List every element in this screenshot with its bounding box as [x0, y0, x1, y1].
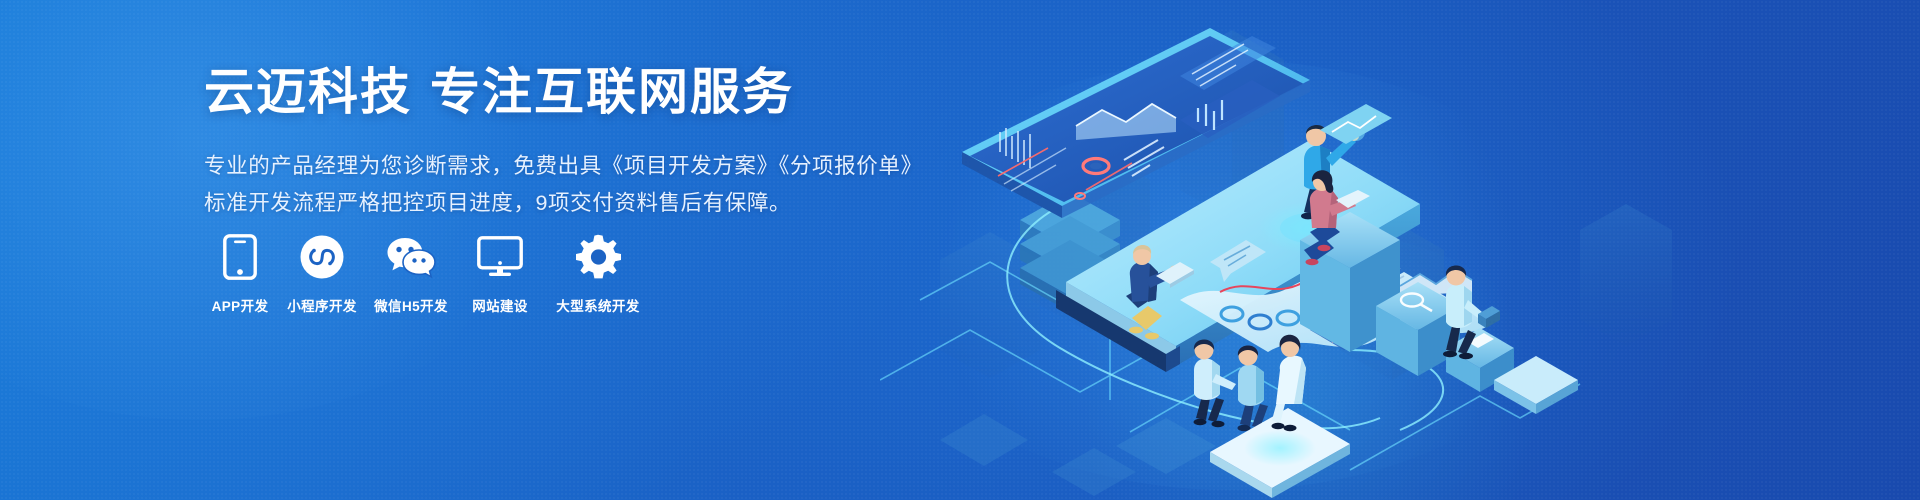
gear-icon — [573, 232, 623, 282]
wechat-chat-icon — [386, 232, 436, 282]
service-label: APP开发 — [212, 295, 269, 315]
headline-tagline: 专注互联网服务 — [430, 64, 794, 120]
desktop-monitor-icon — [475, 232, 525, 282]
service-label: 网站建设 — [472, 295, 528, 315]
service-item-app[interactable]: APP开发 — [204, 232, 276, 315]
service-label: 大型系统开发 — [556, 295, 639, 315]
subtitle-line-1: 专业的产品经理为您诊断需求，免费出具《项目开发方案》《分项报价单》 — [204, 150, 904, 183]
service-item-website[interactable]: 网站建设 — [457, 232, 543, 315]
isometric-tech-illustration — [880, 0, 1920, 500]
banner-copy: 云迈科技专注互联网服务 专业的产品经理为您诊断需求，免费出具《项目开发方案》《分… — [204, 62, 904, 220]
service-label: 微信H5开发 — [374, 295, 448, 315]
mobile-phone-icon — [215, 232, 265, 282]
service-item-large-system[interactable]: 大型系统开发 — [546, 232, 650, 315]
page-title: 云迈科技专注互联网服务 — [204, 62, 904, 122]
service-item-miniprogram[interactable]: 小程序开发 — [279, 232, 365, 315]
promo-banner: 云迈科技专注互联网服务 专业的产品经理为您诊断需求，免费出具《项目开发方案》《分… — [0, 0, 1920, 500]
headline-brand: 云迈科技 — [204, 64, 412, 120]
service-list: APP开发 小程序开发 — [204, 232, 653, 315]
service-label: 小程序开发 — [287, 295, 357, 315]
subtitle-line-2: 标准开发流程严格把控项目进度，9项交付资料售后有保障。 — [204, 187, 904, 220]
mini-program-icon — [297, 232, 347, 282]
service-item-wechat-h5[interactable]: 微信H5开发 — [368, 232, 454, 315]
